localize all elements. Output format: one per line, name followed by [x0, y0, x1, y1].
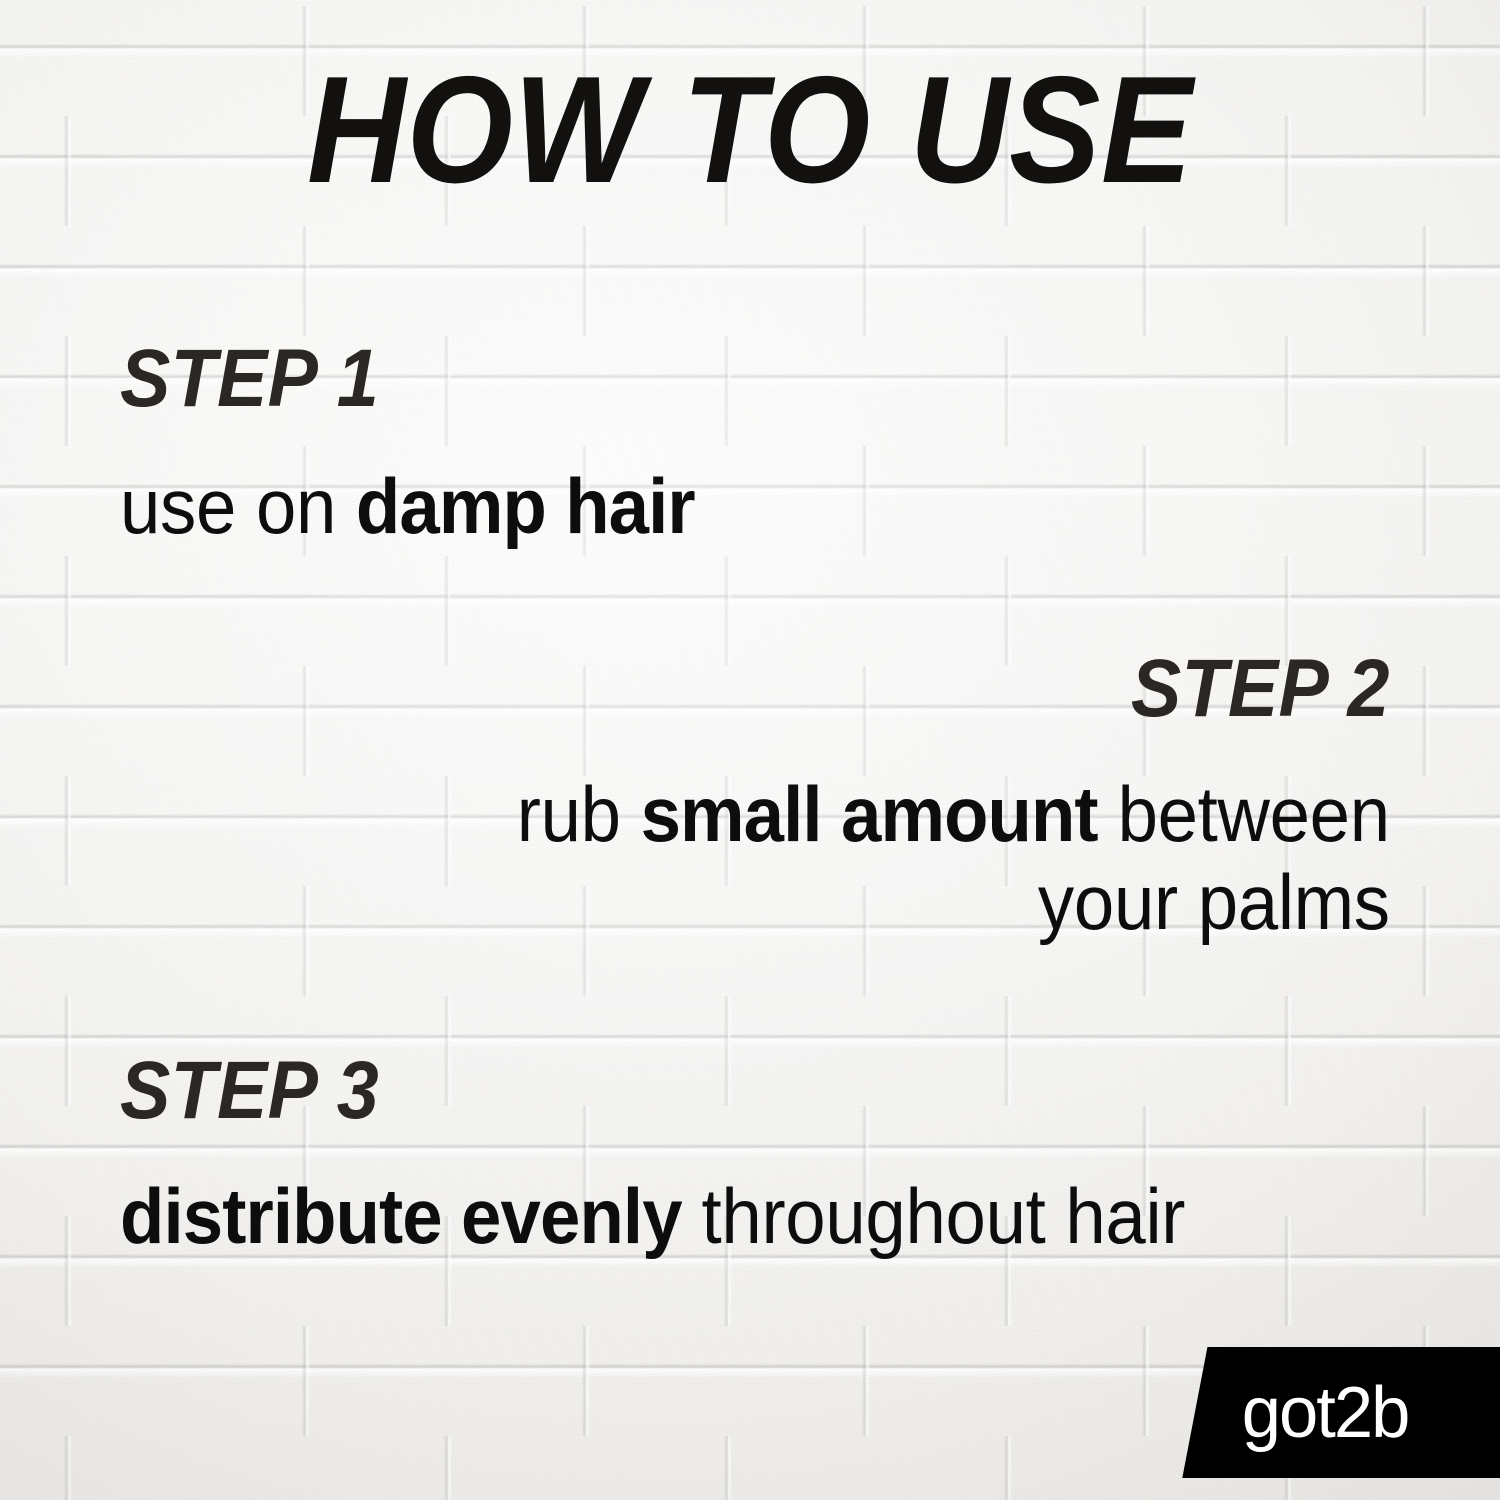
step-2-label: STEP 2 — [526, 648, 1390, 730]
brand-logo-text: got2b — [1242, 1377, 1409, 1449]
step-block-3: STEP 3 distribute evenly throughout hair — [120, 1050, 1265, 1260]
step-3-label: STEP 3 — [120, 1050, 1174, 1132]
step-block-2: STEP 2 rub small amount betweenyour palm… — [451, 648, 1390, 946]
step-1-label: STEP 1 — [120, 338, 689, 420]
step-2-instruction: rub small amount betweenyour palms — [517, 770, 1390, 946]
how-to-use-poster: HOW TO USE STEP 1 use on damp hair STEP … — [0, 0, 1500, 1500]
step-block-1: STEP 1 use on damp hair — [120, 338, 738, 550]
page-title: HOW TO USE — [75, 54, 1425, 206]
step-1-instruction: use on damp hair — [120, 462, 695, 550]
instruction-line: rub small amount between — [517, 770, 1390, 858]
instruction-line: use on damp hair — [120, 462, 695, 550]
step-3-instruction: distribute evenly throughout hair — [120, 1172, 1185, 1260]
got2b-logo-badge: got2b — [1168, 1347, 1500, 1478]
instruction-line: distribute evenly throughout hair — [120, 1172, 1185, 1260]
instruction-line: your palms — [517, 858, 1390, 946]
